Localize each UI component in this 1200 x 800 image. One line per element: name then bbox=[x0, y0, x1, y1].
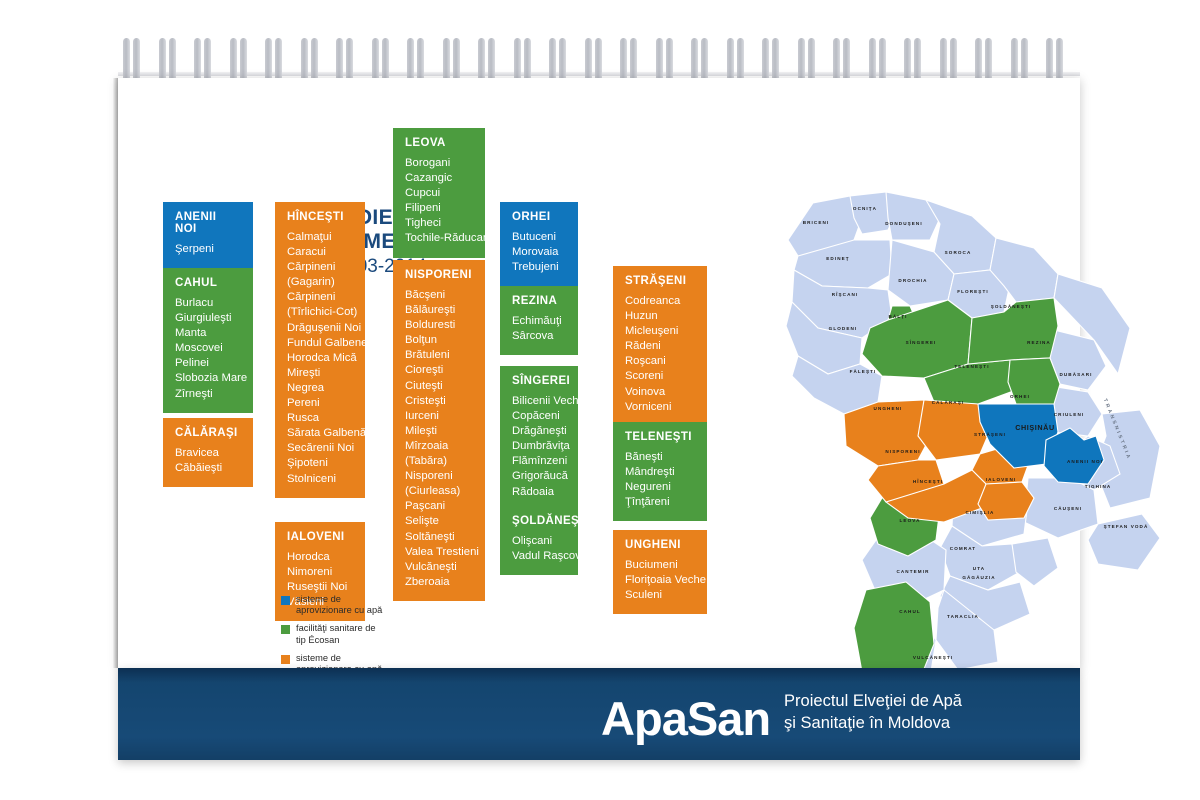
locality-item: Vulcăneşti bbox=[405, 560, 473, 575]
locality-item: Bolduresti bbox=[405, 318, 473, 333]
moldova-map: BRICENIOCNIŢADONDUŞENIEDINEŢSOROCARÎŞCAN… bbox=[758, 178, 1178, 738]
locality-item: Burlacu bbox=[175, 296, 241, 311]
region-dondusenii bbox=[886, 192, 940, 240]
map-label: EDINEŢ bbox=[826, 256, 849, 261]
district-box: SÎNGEREIBilicenii VechiCopăceniDrăgăneşt… bbox=[500, 366, 578, 511]
locality-item: Bilicenii Vechi bbox=[512, 394, 566, 409]
locality-list: CodreancaHuzunMicleuşeniRădeniRoşcaniSco… bbox=[625, 294, 695, 415]
district-box: HÎNCEŞTICalmaţuiCaracuiCărpineni(Gagarin… bbox=[275, 202, 365, 498]
locality-item: Huzun bbox=[625, 309, 695, 324]
locality-item: Horodca bbox=[287, 550, 353, 565]
legend-item: facilităţi sanitare de tip Écosan bbox=[281, 623, 385, 645]
map-label: GLODENI bbox=[829, 326, 858, 331]
locality-item: Dumbrăviţa bbox=[512, 439, 566, 454]
district-box: CĂLĂRAŞIBraviceaCăbăieşti bbox=[163, 418, 253, 487]
legend-item: sisteme de aprovizionare cu apă bbox=[281, 594, 385, 616]
locality-item: Borogani bbox=[405, 156, 473, 171]
map-label: CANTEMIR bbox=[896, 569, 929, 574]
locality-item: Sărata Galbenă bbox=[287, 426, 353, 441]
map-label: BĂLŢI bbox=[888, 313, 907, 319]
map-label: VULCĂNEŞTI bbox=[913, 654, 953, 660]
district-box: UNGHENIBuciumeniFloriţoaia VecheSculeni bbox=[613, 530, 707, 614]
locality-list: EchimăuţiSârcova bbox=[512, 314, 566, 344]
locality-list: BraviceaCăbăieşti bbox=[175, 446, 241, 476]
locality-item: Manta bbox=[175, 326, 241, 341]
map-label: SÎNGEREI bbox=[906, 338, 937, 345]
locality-item: Codreanca bbox=[625, 294, 695, 309]
locality-item: Bălăureşti bbox=[405, 303, 473, 318]
locality-item: (Tabăra) bbox=[405, 454, 473, 469]
map-label: UNGHENI bbox=[874, 406, 903, 411]
locality-item: Fundul Galbenei bbox=[287, 336, 353, 351]
locality-item: Valea Trestieni bbox=[405, 545, 473, 560]
locality-item: Scoreni bbox=[625, 369, 695, 384]
map-label: CRIULENI bbox=[1054, 412, 1085, 417]
map-label: BRICENI bbox=[803, 220, 830, 225]
locality-item: Soltăneşti bbox=[405, 530, 473, 545]
locality-item: Olişcani bbox=[512, 534, 566, 549]
map-label: OCNIŢA bbox=[853, 206, 877, 211]
map-label: FĂLEŞTI bbox=[850, 368, 877, 374]
district-box: TELENEŞTIBăneştiMândreştiNegureniŢînţăre… bbox=[613, 422, 707, 521]
locality-item: Zîrneşti bbox=[175, 387, 241, 402]
locality-item: Şerpeni bbox=[175, 242, 241, 257]
locality-item: Trebujeni bbox=[512, 260, 566, 275]
map-label: FLOREŞTI bbox=[957, 289, 989, 294]
district-box: REZINAEchimăuţiSârcova bbox=[500, 286, 578, 355]
locality-item: Micleuşeni bbox=[625, 324, 695, 339]
locality-item: Flămînzeni bbox=[512, 454, 566, 469]
map-label: CĂUŞENI bbox=[1054, 505, 1082, 511]
district-box-title: ANENII NOI bbox=[175, 211, 241, 235]
locality-item: Rădoaia bbox=[512, 485, 566, 500]
locality-item: Tigheci bbox=[405, 216, 473, 231]
locality-item: Şipoteni bbox=[287, 456, 353, 471]
locality-item: Cărpineni bbox=[287, 290, 353, 305]
map-label: HÎNCEŞTI bbox=[913, 477, 943, 484]
region-stefanvoda bbox=[1088, 514, 1160, 570]
district-box-title: UNGHENI bbox=[625, 539, 695, 551]
locality-item: Floriţoaia Veche bbox=[625, 573, 695, 588]
district-box: CAHULBurlacuGiurgiuleştiMantaMoscoveiPel… bbox=[163, 268, 253, 413]
locality-item: Voinova bbox=[625, 385, 695, 400]
map-label: ŞOLDĂNEŞTI bbox=[991, 303, 1032, 309]
locality-list: BuciumeniFloriţoaia VecheSculeni bbox=[625, 558, 695, 603]
locality-item: Copăceni bbox=[512, 409, 566, 424]
locality-item: Paşcani bbox=[405, 499, 473, 514]
locality-list: BăcşeniBălăureştiBoldurestiBolţunBrătule… bbox=[405, 288, 473, 590]
locality-item: (Ciurleasa) bbox=[405, 484, 473, 499]
map-label: DROCHIA bbox=[898, 278, 927, 283]
brand-tagline-line-2: şi Sanitaţie în Moldova bbox=[784, 713, 962, 735]
locality-item: Bolţun bbox=[405, 333, 473, 348]
locality-item: Cazangic bbox=[405, 171, 473, 186]
map-label: CIMIŞLIA bbox=[966, 510, 995, 515]
locality-item: Grigorăucă bbox=[512, 469, 566, 484]
locality-item: Căbăieşti bbox=[175, 461, 241, 476]
district-box-title: ŞOLDĂNEŞTI bbox=[512, 515, 566, 527]
locality-list: BurlacuGiurgiuleştiMantaMoscoveiPelineiS… bbox=[175, 296, 241, 402]
locality-item: Butuceni bbox=[512, 230, 566, 245]
map-label: CĂLĂRAŞI bbox=[932, 399, 965, 405]
map-label: ŞTEFAN VODĂ bbox=[1104, 523, 1149, 529]
map-label: IALOVENI bbox=[986, 477, 1017, 482]
map-label: ANENII NOI bbox=[1067, 459, 1103, 464]
district-box: LEOVABoroganiCazangicCupcuiFilipeniTighe… bbox=[393, 128, 485, 258]
map-label: UTA bbox=[973, 566, 985, 571]
footer-banner: ApaSan Proiectul Elveţiei de Apă şi Sani… bbox=[118, 668, 1080, 760]
map-label: STRĂŞENI bbox=[974, 431, 1006, 437]
locality-item: Mândreşti bbox=[625, 465, 695, 480]
locality-item: Sârcova bbox=[512, 329, 566, 344]
locality-item: Rădeni bbox=[625, 339, 695, 354]
locality-item: Rusca bbox=[287, 411, 353, 426]
brand-tagline: Proiectul Elveţiei de Apă şi Sanitaţie î… bbox=[784, 691, 962, 740]
brand-tagline-line-1: Proiectul Elveţiei de Apă bbox=[784, 691, 962, 713]
locality-item: Morovaia bbox=[512, 245, 566, 260]
locality-item: Cupcui bbox=[405, 186, 473, 201]
locality-item: Cristeşti bbox=[405, 394, 473, 409]
locality-item: Sculeni bbox=[625, 588, 695, 603]
locality-item: Secărenii Noi bbox=[287, 441, 353, 456]
locality-item: Selişte bbox=[405, 514, 473, 529]
district-box-title: STRĂŞENI bbox=[625, 275, 695, 287]
district-box-title: CAHUL bbox=[175, 277, 241, 289]
locality-item: Roşcani bbox=[625, 354, 695, 369]
locality-item: Negrea bbox=[287, 381, 353, 396]
region-basarabeasca bbox=[1012, 538, 1058, 586]
map-label: GĂGĂUZIA bbox=[962, 574, 995, 580]
locality-item: Cărpineni bbox=[287, 260, 353, 275]
locality-item: Zberoaia bbox=[405, 575, 473, 590]
map-label: LEOVA bbox=[900, 518, 921, 523]
locality-list: BoroganiCazangicCupcuiFilipeniTigheciToc… bbox=[405, 156, 473, 247]
map-label: REZINA bbox=[1027, 340, 1051, 345]
map-label: CAHUL bbox=[899, 609, 921, 614]
map-label: TARACLIA bbox=[947, 614, 979, 619]
district-box: ORHEIButuceniMorovaiaTrebujeni bbox=[500, 202, 578, 286]
locality-item: Vorniceni bbox=[625, 400, 695, 415]
locality-list: ButuceniMorovaiaTrebujeni bbox=[512, 230, 566, 275]
locality-item: Iurceni bbox=[405, 409, 473, 424]
locality-item: Calmaţui bbox=[287, 230, 353, 245]
district-box-title: ORHEI bbox=[512, 211, 566, 223]
district-box: ŞOLDĂNEŞTIOlişcaniVadul Raşcov bbox=[500, 506, 578, 575]
district-box-title: NISPORENI bbox=[405, 269, 473, 281]
map-label: RÎŞCANI bbox=[832, 290, 859, 297]
map-label: NISPORENI bbox=[885, 449, 920, 454]
locality-item: Brătuleni bbox=[405, 348, 473, 363]
locality-item: Pereni bbox=[287, 396, 353, 411]
locality-item: (Tîrlichici-Cot) bbox=[287, 305, 353, 320]
calendar-page: PROIECTE IMPLEMENTATE 2003-2014 ANENII N… bbox=[0, 0, 1200, 800]
locality-list: OlişcaniVadul Raşcov bbox=[512, 534, 566, 564]
locality-item: Cioreşti bbox=[405, 363, 473, 378]
brand-name: ApaSan bbox=[601, 697, 770, 740]
map-label: SOROCA bbox=[945, 250, 972, 255]
locality-item: Echimăuţi bbox=[512, 314, 566, 329]
map-label: TIGHINA bbox=[1085, 484, 1112, 489]
brand-block: ApaSan Proiectul Elveţiei de Apă şi Sani… bbox=[601, 691, 962, 740]
locality-item: Tochile-Răducani bbox=[405, 231, 473, 246]
locality-item: Giurgiuleşti bbox=[175, 311, 241, 326]
locality-list: BăneştiMândreştiNegureniŢînţăreni bbox=[625, 450, 695, 510]
locality-item: Mileşti bbox=[405, 424, 473, 439]
district-box: ANENII NOIŞerpeni bbox=[163, 202, 253, 268]
locality-item: Horodca Mică bbox=[287, 351, 353, 366]
locality-list: Şerpeni bbox=[175, 242, 241, 257]
locality-list: CalmaţuiCaracuiCărpineni(Gagarin)Cărpine… bbox=[287, 230, 353, 487]
locality-item: Drăguşenii Noi bbox=[287, 321, 353, 336]
locality-item: Mireşti bbox=[287, 366, 353, 381]
legend-swatch bbox=[281, 596, 290, 605]
locality-item: Mîrzoaia bbox=[405, 439, 473, 454]
map-label: ORHEI bbox=[1010, 394, 1030, 399]
legend-swatch bbox=[281, 625, 290, 634]
locality-item: (Gagarin) bbox=[287, 275, 353, 290]
locality-item: Pelinei bbox=[175, 356, 241, 371]
map-label: CHIŞINĂU bbox=[1015, 423, 1055, 432]
locality-list: Bilicenii VechiCopăceniDrăgăneştiDumbrăv… bbox=[512, 394, 566, 500]
district-box-title: REZINA bbox=[512, 295, 566, 307]
district-box-title: LEOVA bbox=[405, 137, 473, 149]
district-box-title: TELENEŞTI bbox=[625, 431, 695, 443]
locality-item: Băcşeni bbox=[405, 288, 473, 303]
locality-item: Băneşti bbox=[625, 450, 695, 465]
legend-label: facilităţi sanitare de tip Écosan bbox=[296, 623, 385, 645]
locality-item: Bravicea bbox=[175, 446, 241, 461]
locality-item: Ciuteşti bbox=[405, 379, 473, 394]
locality-item: Slobozia Mare bbox=[175, 371, 241, 386]
poster-page: PROIECTE IMPLEMENTATE 2003-2014 ANENII N… bbox=[118, 78, 1080, 668]
locality-item: Moscovei bbox=[175, 341, 241, 356]
district-box-title: HÎNCEŞTI bbox=[287, 211, 353, 223]
locality-item: Negureni bbox=[625, 480, 695, 495]
district-box: STRĂŞENICodreancaHuzunMicleuşeniRădeniRo… bbox=[613, 266, 707, 426]
map-label: DONDUŞENI bbox=[885, 221, 922, 226]
locality-item: Nimoreni bbox=[287, 565, 353, 580]
district-box-title: IALOVENI bbox=[287, 531, 353, 543]
district-box-title: CĂLĂRAŞI bbox=[175, 427, 241, 439]
locality-item: Nisporeni bbox=[405, 469, 473, 484]
locality-item: Caracui bbox=[287, 245, 353, 260]
locality-item: Buciumeni bbox=[625, 558, 695, 573]
map-label: DUBĂSARI bbox=[1059, 371, 1092, 377]
district-box: NISPORENIBăcşeniBălăureştiBoldurestiBolţ… bbox=[393, 260, 485, 601]
locality-item: Drăgăneşti bbox=[512, 424, 566, 439]
locality-item: Vadul Raşcov bbox=[512, 549, 566, 564]
district-box-title: SÎNGEREI bbox=[512, 375, 566, 387]
locality-item: Stolniceni bbox=[287, 472, 353, 487]
map-label: COMRAT bbox=[950, 546, 976, 551]
legend-label: sisteme de aprovizionare cu apă bbox=[296, 594, 385, 616]
map-label: TELENEŞTI bbox=[954, 364, 989, 369]
locality-item: Ţînţăreni bbox=[625, 495, 695, 510]
locality-item: Filipeni bbox=[405, 201, 473, 216]
legend-swatch bbox=[281, 655, 290, 664]
